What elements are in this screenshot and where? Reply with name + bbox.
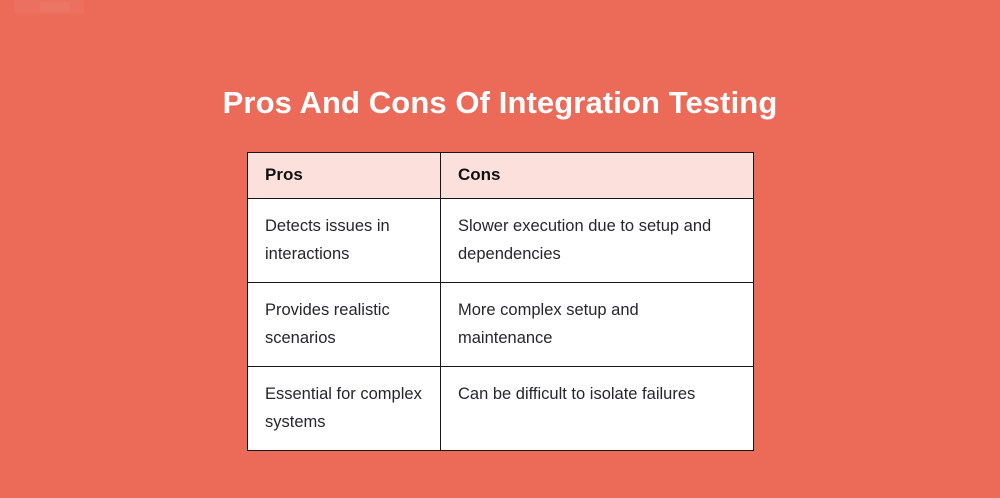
table-row: Essential for complex systems Can be dif… — [248, 367, 754, 451]
pros-cons-table-container: Pros Cons Detects issues in interactions… — [247, 152, 753, 451]
cell-pros: Detects issues in interactions — [248, 199, 441, 283]
cell-cons: Can be difficult to isolate failures — [441, 367, 754, 451]
cell-pros: Provides realistic scenarios — [248, 283, 441, 367]
column-header-cons: Cons — [441, 153, 754, 199]
pros-cons-table: Pros Cons Detects issues in interactions… — [247, 152, 754, 451]
table-header-row: Pros Cons — [248, 153, 754, 199]
background-watermark-mark-secondary — [40, 2, 70, 12]
column-header-pros: Pros — [248, 153, 441, 199]
table-row: Provides realistic scenarios More comple… — [248, 283, 754, 367]
table-body: Detects issues in interactions Slower ex… — [248, 199, 754, 451]
page-title: Pros And Cons Of Integration Testing — [0, 81, 1000, 125]
cell-cons: Slower execution due to setup and depend… — [441, 199, 754, 283]
table-header: Pros Cons — [248, 153, 754, 199]
background-watermark-mark — [14, 0, 84, 14]
cell-pros: Essential for complex systems — [248, 367, 441, 451]
table-row: Detects issues in interactions Slower ex… — [248, 199, 754, 283]
cell-cons: More complex setup and maintenance — [441, 283, 754, 367]
